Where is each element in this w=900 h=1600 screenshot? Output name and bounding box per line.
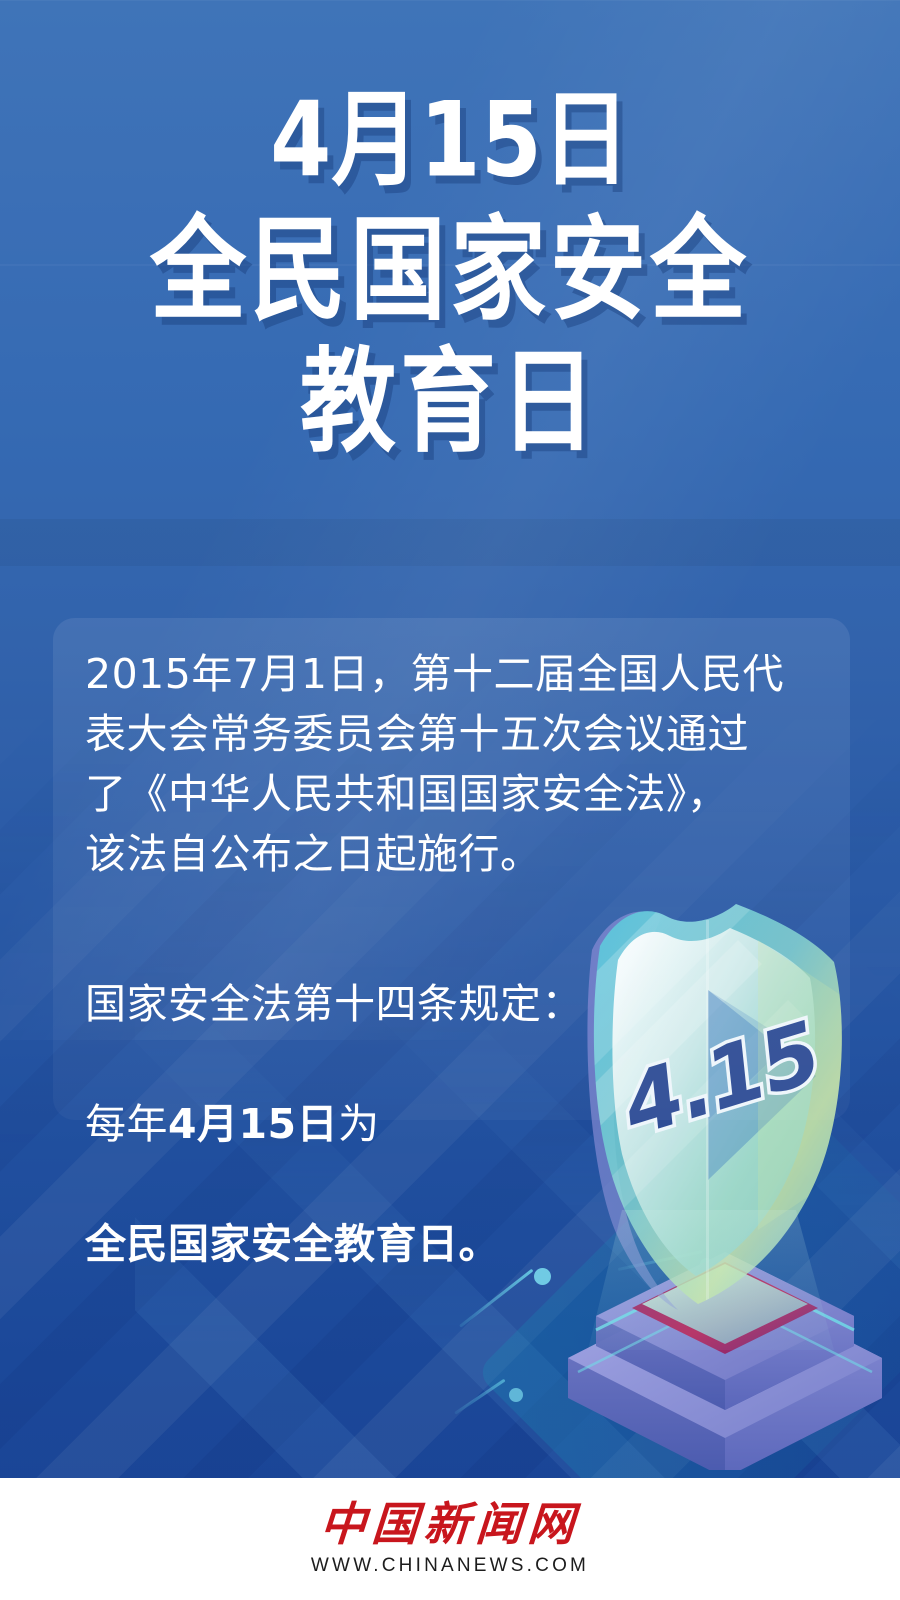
info-card: 2015年7月1日，第十二届全国人民代 表大会常务委员会第十五次会议通过 了《中… xyxy=(53,618,850,1120)
paragraph-article-fourteen: 国家安全法第十四条规定： 每年4月15日为 全民国家安全教育日。 xyxy=(85,914,826,1334)
chinanews-url: WWW.CHINANEWS.COM xyxy=(311,1555,589,1577)
article-date-line: 每年4月15日为 xyxy=(85,1094,826,1154)
paragraph-law-passage: 2015年7月1日，第十二届全国人民代 表大会常务委员会第十五次会议通过 了《中… xyxy=(85,644,826,884)
info-card-content: 2015年7月1日，第十二届全国人民代 表大会常务委员会第十五次会议通过 了《中… xyxy=(85,644,826,1334)
footer-branding: 中国新闻网 WWW.CHINANEWS.COM xyxy=(0,1478,900,1600)
article-intro-line: 国家安全法第十四条规定： xyxy=(85,974,826,1034)
chinanews-logo-text: 中国新闻网 xyxy=(318,1501,581,1547)
every-year-label: 每年 xyxy=(85,1100,168,1148)
as-label: 为 xyxy=(338,1100,380,1148)
observance-name-line: 全民国家安全教育日。 xyxy=(85,1214,826,1274)
date-emphasis: 4月15日 xyxy=(168,1100,338,1148)
poster-canvas: 4月15日 全民国家安全 教育日 xyxy=(0,0,900,1600)
